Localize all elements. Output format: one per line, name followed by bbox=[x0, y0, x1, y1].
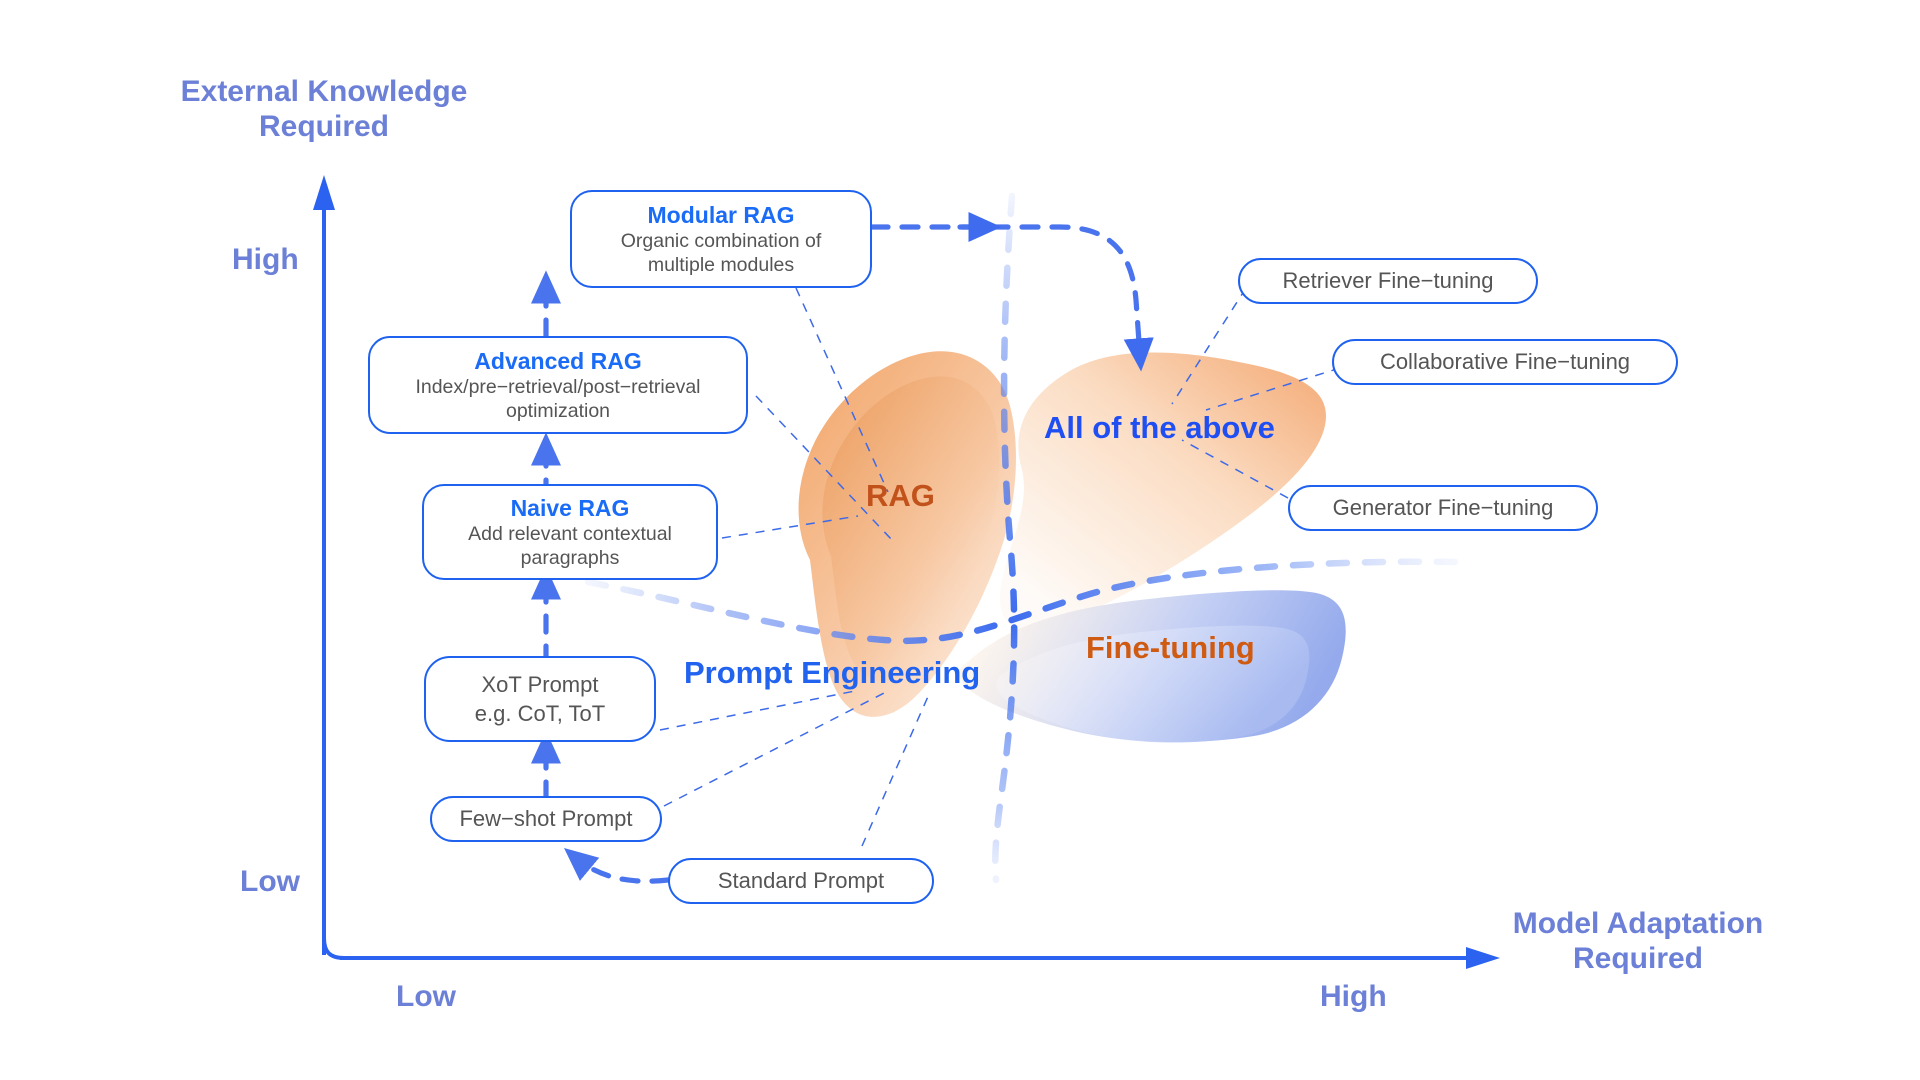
node-advanced-rag-subtitle-line2: optimization bbox=[506, 400, 610, 423]
node-generator-fine-tuning[interactable]: Generator Fine−tuning bbox=[1288, 485, 1598, 531]
region-label-fine-tuning: Fine-tuning bbox=[1086, 630, 1255, 666]
node-few-shot-prompt-title: Few−shot Prompt bbox=[459, 806, 632, 833]
node-naive-rag-title: Naive RAG bbox=[511, 494, 630, 522]
node-modular-rag-subtitle-line2: multiple modules bbox=[648, 254, 794, 277]
node-modular-rag-title: Modular RAG bbox=[648, 201, 795, 229]
region-label-rag: RAG bbox=[866, 478, 935, 514]
node-advanced-rag-title: Advanced RAG bbox=[474, 347, 641, 375]
node-xot-prompt-title: XoT Prompt bbox=[482, 670, 599, 699]
node-standard-prompt[interactable]: Standard Prompt bbox=[668, 858, 934, 904]
node-xot-prompt[interactable]: XoT Prompt e.g. CoT, ToT bbox=[424, 656, 656, 742]
node-collaborative-fine-tuning-title: Collaborative Fine−tuning bbox=[1380, 349, 1630, 376]
x-axis-label: Model Adaptation Required bbox=[1488, 906, 1788, 977]
node-standard-prompt-title: Standard Prompt bbox=[718, 868, 884, 895]
region-label-prompt-engineering: Prompt Engineering bbox=[684, 655, 980, 691]
y-axis-label: External Knowledge Required bbox=[164, 74, 484, 145]
node-collaborative-fine-tuning[interactable]: Collaborative Fine−tuning bbox=[1332, 339, 1678, 385]
y-axis-label-line1: External Knowledge bbox=[164, 74, 484, 109]
x-axis-tick-low: Low bbox=[396, 980, 456, 1014]
node-modular-rag-subtitle-line1: Organic combination of bbox=[621, 230, 822, 253]
x-axis-tick-high: High bbox=[1320, 980, 1387, 1014]
region-blob-all-of-the-above bbox=[1000, 352, 1326, 630]
node-generator-fine-tuning-title: Generator Fine−tuning bbox=[1333, 495, 1554, 522]
node-retriever-fine-tuning-title: Retriever Fine−tuning bbox=[1283, 268, 1494, 295]
node-advanced-rag[interactable]: Advanced RAG Index/pre−retrieval/post−re… bbox=[368, 336, 748, 434]
node-naive-rag[interactable]: Naive RAG Add relevant contextual paragr… bbox=[422, 484, 718, 580]
node-retriever-fine-tuning[interactable]: Retriever Fine−tuning bbox=[1238, 258, 1538, 304]
node-xot-prompt-subtitle: e.g. CoT, ToT bbox=[475, 699, 605, 728]
y-axis-label-line2: Required bbox=[164, 109, 484, 144]
x-axis-label-line2: Required bbox=[1488, 941, 1788, 976]
node-naive-rag-subtitle-line2: paragraphs bbox=[521, 547, 620, 570]
y-axis-tick-high: High bbox=[232, 243, 299, 277]
node-few-shot-prompt[interactable]: Few−shot Prompt bbox=[430, 796, 662, 842]
node-naive-rag-subtitle-line1: Add relevant contextual bbox=[468, 523, 672, 546]
node-advanced-rag-subtitle-line1: Index/pre−retrieval/post−retrieval bbox=[415, 376, 700, 399]
x-axis-label-line1: Model Adaptation bbox=[1488, 906, 1788, 941]
region-label-all-of-the-above: All of the above bbox=[1044, 410, 1275, 446]
y-axis-tick-low: Low bbox=[240, 865, 300, 899]
node-modular-rag[interactable]: Modular RAG Organic combination of multi… bbox=[570, 190, 872, 288]
diagram-canvas: External Knowledge Required High Low Mod… bbox=[0, 0, 1920, 1080]
